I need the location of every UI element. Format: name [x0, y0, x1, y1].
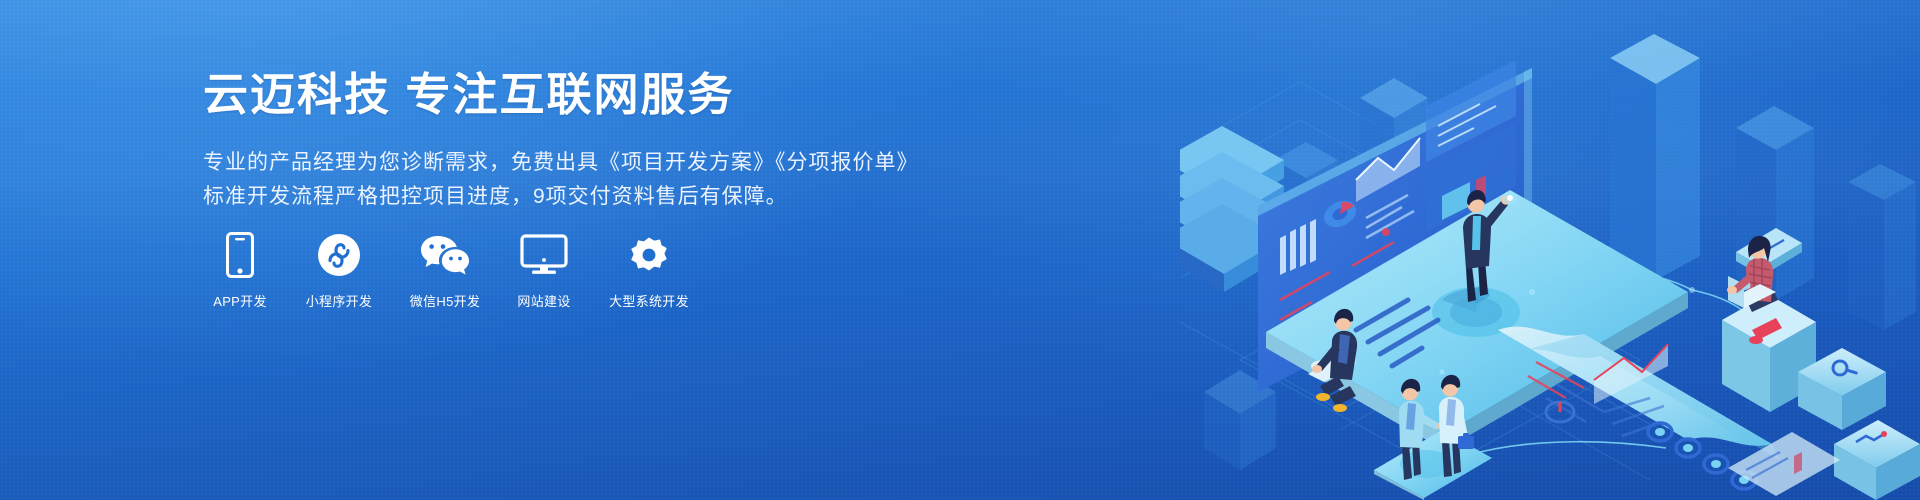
- data-ribbon: [1498, 327, 1780, 489]
- hero-banner: 云迈科技 专注互联网服务 专业的产品经理为您诊断需求，免费出具《项目开发方案》《…: [0, 0, 1920, 500]
- service-label: 大型系统开发: [609, 291, 689, 310]
- service-item-wechat-h5[interactable]: 微信H5开发: [403, 232, 487, 310]
- subtitle-line-2: 标准开发流程严格把控项目进度，9项交付资料售后有保障。: [203, 180, 919, 214]
- woman-on-pedestal-with-laptop: [1722, 228, 1816, 412]
- monitor-icon: [520, 232, 568, 278]
- tablet-platform: [1266, 190, 1688, 450]
- service-list: APP开发 小程序开发: [205, 232, 697, 310]
- isometric-illustration: [1180, 0, 1920, 500]
- page-title: 云迈科技 专注互联网服务: [203, 68, 919, 121]
- service-label: 小程序开发: [306, 291, 373, 310]
- hero-copy: 云迈科技 专注互联网服务 专业的产品经理为您诊断需求，免费出具《项目开发方案》《…: [203, 68, 919, 214]
- service-label: APP开发: [213, 291, 267, 310]
- gear-icon: [627, 232, 671, 278]
- service-label: 微信H5开发: [410, 291, 480, 310]
- subtitle-line-1: 专业的产品经理为您诊断需求，免费出具《项目开发方案》《分项报价单》: [203, 146, 919, 180]
- mobile-phone-icon: [226, 232, 254, 278]
- chart-cube: [1834, 420, 1920, 500]
- server-stack: [1180, 126, 1284, 292]
- person-presenting: [1463, 190, 1517, 304]
- service-item-large-system[interactable]: 大型系统开发: [601, 232, 697, 310]
- two-people-talking: [1374, 375, 1492, 500]
- wechat-icon: [419, 232, 471, 278]
- person-with-laptop-sitting: [1308, 309, 1357, 412]
- service-item-app[interactable]: APP开发: [205, 232, 275, 310]
- dashboard-screen: [1258, 60, 1532, 392]
- search-cube: [1798, 348, 1886, 430]
- mini-program-icon: [317, 232, 361, 278]
- service-item-website[interactable]: 网站建设: [509, 232, 579, 310]
- service-label: 网站建设: [517, 291, 570, 310]
- service-item-mini-program[interactable]: 小程序开发: [297, 232, 381, 310]
- hero-subtitle: 专业的产品经理为您诊断需求，免费出具《项目开发方案》《分项报价单》 标准开发流程…: [203, 146, 919, 214]
